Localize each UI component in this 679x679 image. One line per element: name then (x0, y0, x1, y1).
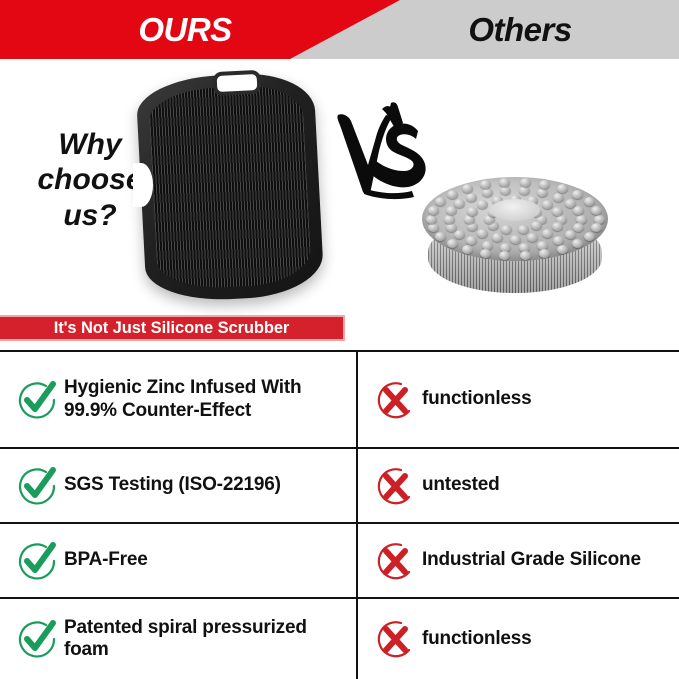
theirs-feature-text: functionless (422, 388, 532, 410)
versus-icon (330, 97, 430, 202)
competitor-scrubber-nub (447, 239, 458, 248)
competitor-scrubber-nub (573, 223, 584, 232)
table-row: Patented spiral pressurized foam functio… (0, 599, 679, 679)
comparison-infographic: OURS Others Why choose us? (0, 0, 679, 679)
competitor-scrubber-nub (492, 233, 503, 242)
tagline-text: It's Not Just Silicone Scrubber (54, 319, 290, 338)
competitor-scrubber-nub (539, 249, 550, 258)
theirs-cell: untested (358, 449, 679, 522)
ours-cell: Patented spiral pressurized foam (0, 599, 358, 679)
theirs-cell: Industrial Grade Silicone (358, 524, 679, 597)
cross-icon (374, 379, 416, 421)
competitor-scrubber-nub (499, 178, 510, 187)
competitor-scrubber-nub (519, 186, 530, 195)
cross-icon (374, 618, 416, 660)
competitor-scrubber-nub (527, 233, 538, 242)
table-row: Hygienic Zinc Infused With 99.9% Counter… (0, 352, 679, 449)
check-icon (16, 618, 58, 660)
competitor-scrubber-nub (501, 225, 512, 234)
competitor-scrubber-nub (462, 184, 473, 193)
theirs-cell: functionless (358, 599, 679, 679)
check-icon (16, 379, 58, 421)
competitor-scrubber-nub (462, 245, 473, 254)
competitor-scrubber-nub (466, 193, 477, 202)
tagline-banner: It's Not Just Silicone Scrubber (0, 315, 345, 341)
competitor-scrubber-nub (454, 230, 465, 239)
competitor-scrubber-nub (572, 190, 583, 199)
competitor-scrubber-nub (428, 206, 439, 215)
competitor-scrubber-nub (435, 197, 446, 206)
competitor-scrubber-nub (584, 197, 595, 206)
competitor-scrubber-nub (594, 215, 605, 224)
competitor-scrubber-nub (531, 221, 542, 230)
competitor-scrubber-nub (520, 251, 531, 260)
ours-cell: SGS Testing (ISO-22196) (0, 449, 358, 522)
competitor-scrubber-nub (426, 215, 437, 224)
competitor-scrubber-nub (480, 249, 491, 258)
competitor-scrubber-nub (477, 200, 488, 209)
competitor-scrubber-nub (477, 229, 488, 238)
ours-feature-text: Hygienic Zinc Infused With 99.9% Counter… (64, 377, 350, 422)
ours-feature-text: SGS Testing (ISO-22196) (64, 474, 281, 496)
competitor-scrubber-nub (480, 180, 491, 189)
competitor-scrubber-nub (428, 223, 439, 232)
competitor-scrubber-nub (435, 232, 446, 241)
competitor-scrubber-nub (518, 225, 529, 234)
cross-icon (374, 540, 416, 582)
header-others-label: Others (440, 0, 600, 59)
competitor-scrubber-nub (565, 230, 576, 239)
ours-product-image (133, 67, 333, 307)
check-icon (16, 540, 58, 582)
competitor-scrubber-nub (464, 215, 475, 224)
comparison-table: Hygienic Zinc Infused With 99.9% Counter… (0, 350, 679, 679)
competitor-scrubber-nub (446, 223, 457, 232)
competitor-scrubber-nub (482, 188, 493, 197)
ours-feature-text: BPA-Free (64, 549, 148, 571)
competitor-scrubber-nub (557, 245, 568, 254)
competitor-scrubber-nub (446, 206, 457, 215)
competitor-scrubber-nub (542, 200, 553, 209)
competitor-scrubber-center (490, 199, 540, 221)
competitor-scrubber-nub (572, 239, 583, 248)
competitor-scrubber-nub (510, 235, 521, 244)
ours-feature-text: Patented spiral pressurized foam (64, 617, 350, 662)
competitor-scrubber-nub (591, 223, 602, 232)
theirs-cell: functionless (358, 352, 679, 447)
header-banner: OURS Others (0, 0, 679, 59)
theirs-feature-text: functionless (422, 628, 532, 650)
theirs-feature-text: Industrial Grade Silicone (422, 549, 641, 571)
competitor-scrubber-nub (552, 222, 563, 231)
competitor-scrubber-nub (542, 229, 553, 238)
table-row: BPA-Free Industrial Grade Silicone (0, 524, 679, 599)
check-icon (16, 465, 58, 507)
competitor-scrubber-nub (444, 215, 455, 224)
header-ours-label: OURS (120, 0, 250, 59)
table-row: SGS Testing (ISO-22196) untested (0, 449, 679, 524)
competitor-scrubber-nub (591, 206, 602, 215)
competitor-scrubber-nub (454, 199, 465, 208)
theirs-feature-text: untested (422, 474, 500, 496)
product-hero-section: Why choose us? (0, 59, 679, 312)
ours-cell: Hygienic Zinc Infused With 99.9% Counter… (0, 352, 358, 447)
competitor-scrubber-nub (537, 188, 548, 197)
scrubber-hanging-loop (212, 70, 261, 96)
ours-cell: BPA-Free (0, 524, 358, 597)
competitor-scrubber-nub (467, 207, 478, 216)
competitor-scrubber-nub (553, 193, 564, 202)
competitor-scrubber-nub (539, 180, 550, 189)
cross-icon (374, 465, 416, 507)
competitor-scrubber-nub (573, 206, 584, 215)
others-product-image (420, 169, 610, 309)
competitor-scrubber-nub (557, 184, 568, 193)
competitor-scrubber-nub (584, 232, 595, 241)
competitor-scrubber-nub (500, 186, 511, 195)
competitor-scrubber-nub (520, 178, 531, 187)
competitor-scrubber-nub (499, 251, 510, 260)
scrubber-bristles (148, 83, 312, 291)
competitor-scrubber-nub (552, 207, 563, 216)
competitor-scrubber-nub (447, 190, 458, 199)
